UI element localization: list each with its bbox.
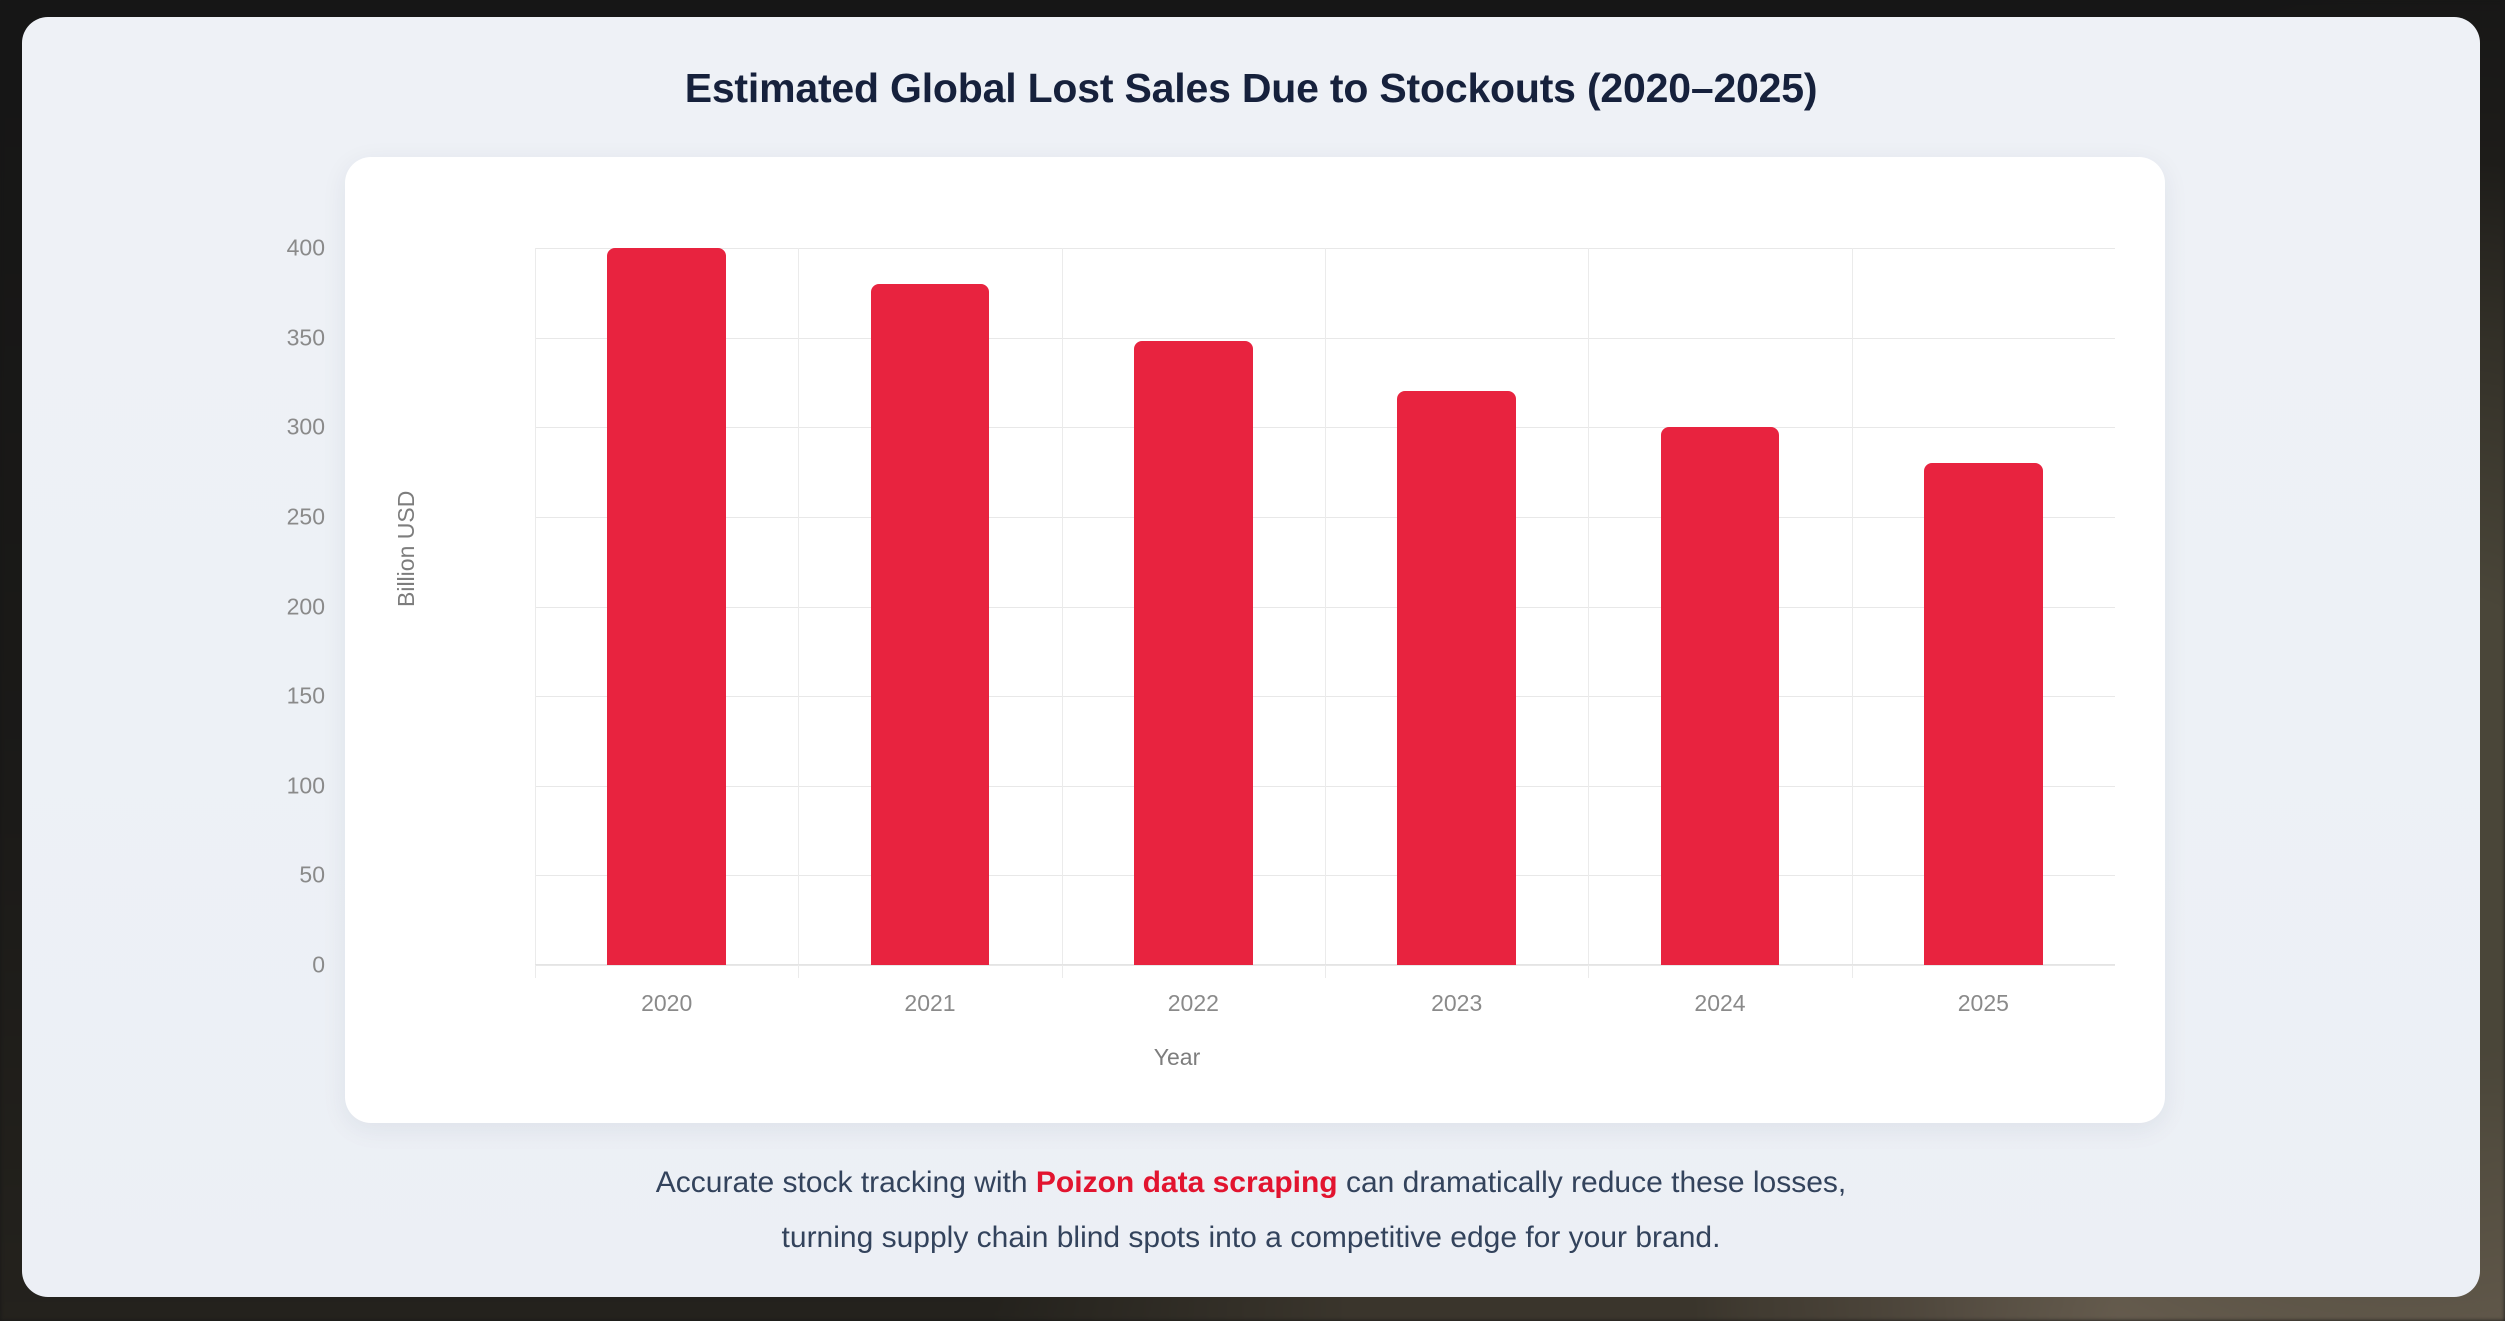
bar-chart: Billion USD 050100150200250300350400 202… xyxy=(345,157,2165,1123)
category-separator xyxy=(798,248,799,978)
page-title: Estimated Global Lost Sales Due to Stock… xyxy=(22,65,2480,112)
content-panel: Estimated Global Lost Sales Due to Stock… xyxy=(22,17,2480,1297)
category-separator xyxy=(1062,248,1063,978)
x-axis-label: Year xyxy=(1154,1044,1200,1071)
caption-line-2: turning supply chain blind spots into a … xyxy=(22,1210,2480,1265)
category-separator xyxy=(1852,248,1853,978)
caption-line-1: Accurate stock tracking with Poizon data… xyxy=(22,1155,2480,1210)
y-tick-label: 200 xyxy=(185,593,325,620)
y-axis-line xyxy=(535,248,536,978)
x-tick-label: 2021 xyxy=(904,990,955,1017)
y-tick-label: 0 xyxy=(185,952,325,979)
category-separator xyxy=(1325,248,1326,978)
y-tick-label: 400 xyxy=(185,235,325,262)
caption-highlight-link[interactable]: Poizon data scraping xyxy=(1036,1166,1338,1199)
bar[interactable] xyxy=(607,248,726,965)
y-tick-label: 100 xyxy=(185,772,325,799)
y-axis-label: Billion USD xyxy=(393,491,420,607)
y-tick-label: 50 xyxy=(185,862,325,889)
x-tick-label: 2025 xyxy=(1958,990,2009,1017)
x-axis-line xyxy=(535,964,2115,965)
x-tick-label: 2020 xyxy=(641,990,692,1017)
bar[interactable] xyxy=(1924,463,2043,965)
category-separator xyxy=(1588,248,1589,978)
chart-card: Billion USD 050100150200250300350400 202… xyxy=(345,157,2165,1123)
y-tick-label: 150 xyxy=(185,683,325,710)
plot-area: 050100150200250300350400 202020212022202… xyxy=(535,248,2115,965)
x-tick-label: 2024 xyxy=(1694,990,1745,1017)
bar[interactable] xyxy=(1397,391,1516,965)
bar[interactable] xyxy=(871,284,990,965)
bar[interactable] xyxy=(1134,341,1253,965)
caption-text-after: can dramatically reduce these losses, xyxy=(1338,1166,1847,1199)
x-axis-label-wrap: Year xyxy=(345,1044,2165,1071)
y-tick-label: 300 xyxy=(185,414,325,441)
bar[interactable] xyxy=(1661,427,1780,965)
y-tick-label: 250 xyxy=(185,503,325,530)
caption-text-before: Accurate stock tracking with xyxy=(656,1166,1036,1199)
caption: Accurate stock tracking with Poizon data… xyxy=(22,1155,2480,1265)
x-tick-label: 2022 xyxy=(1168,990,1219,1017)
x-tick-label: 2023 xyxy=(1431,990,1482,1017)
y-tick-label: 350 xyxy=(185,324,325,351)
